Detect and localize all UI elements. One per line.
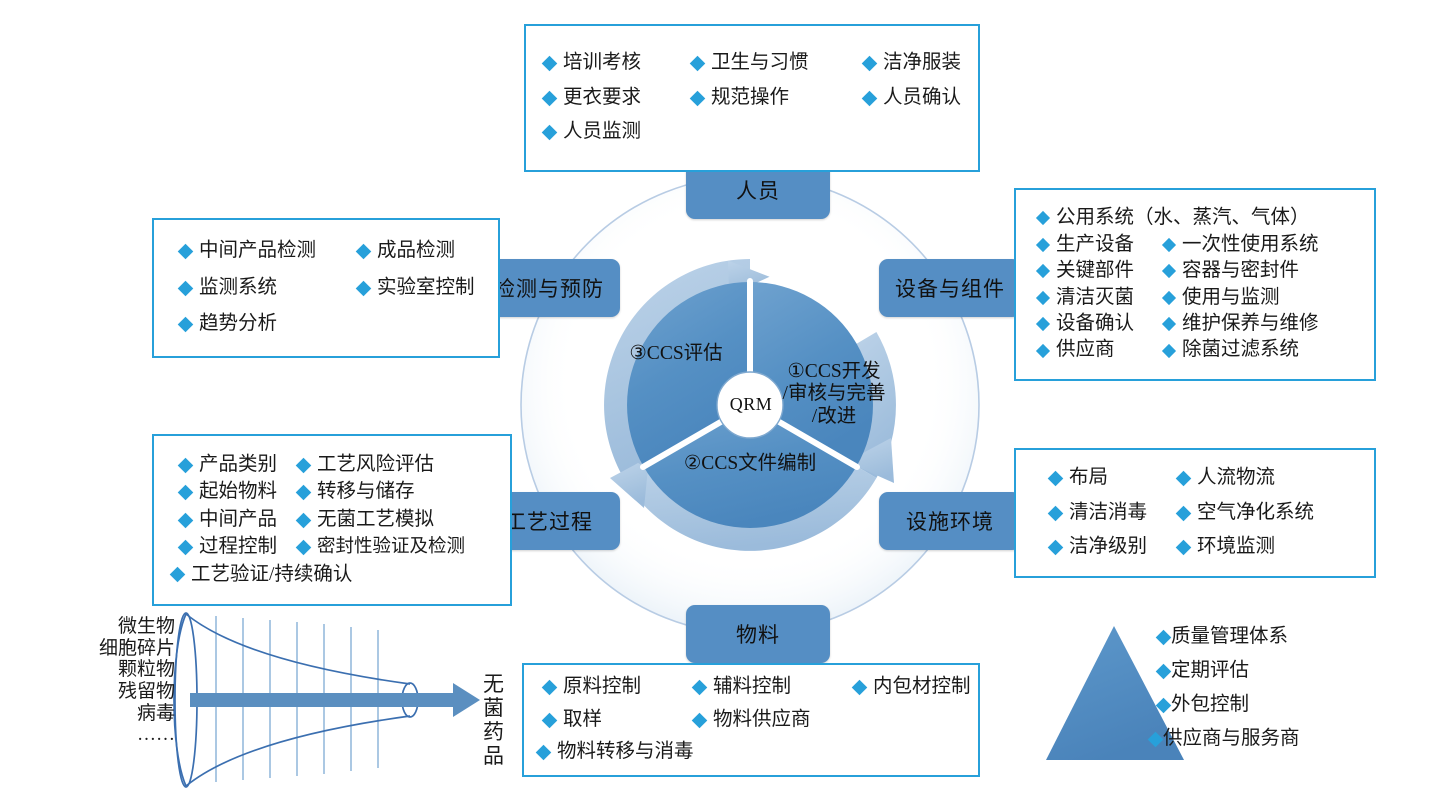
- diamond-bullet-icon: [1162, 238, 1176, 252]
- list-item: 卫生与习惯: [692, 53, 864, 73]
- list-item: 无菌工艺模拟: [298, 510, 510, 530]
- diamond-bullet-icon: [1176, 505, 1192, 521]
- list-item: 中间产品检测: [180, 241, 358, 261]
- diamond-bullet-icon: [542, 90, 558, 106]
- diamond-bullet-icon: [1148, 731, 1164, 747]
- list-item: 维护保养与维修: [1164, 314, 1374, 334]
- panel-process: 产品类别 工艺风险评估 起始物料 转移与储存 中间产品 无菌工艺模拟 过程控制 …: [152, 434, 512, 606]
- funnel-input: 颗粒物: [55, 659, 175, 681]
- diamond-bullet-icon: [542, 712, 558, 728]
- list-item: 中间产品: [180, 510, 298, 530]
- list-item: 密封性验证及检测: [298, 537, 510, 557]
- category-pill-equipment[interactable]: 设备与组件: [879, 259, 1021, 317]
- diamond-bullet-icon: [356, 244, 372, 260]
- diamond-bullet-icon: [296, 512, 312, 528]
- diamond-bullet-icon: [170, 567, 186, 583]
- diamond-bullet-icon: [178, 457, 194, 473]
- diamond-bullet-icon: [542, 680, 558, 696]
- diamond-bullet-icon: [1176, 540, 1192, 556]
- diamond-bullet-icon: [852, 680, 868, 696]
- diamond-bullet-icon: [862, 90, 878, 106]
- list-item: 人员监测: [544, 122, 692, 142]
- panel-material: 原料控制 辅料控制 内包材控制 取样 物料供应商 物料转移与消毒: [522, 663, 980, 777]
- diamond-bullet-icon: [1156, 697, 1172, 713]
- diamond-bullet-icon: [178, 540, 194, 556]
- list-item: 一次性使用系统: [1164, 235, 1374, 255]
- list-item: 容器与密封件: [1164, 261, 1374, 281]
- list-item: 人流物流: [1178, 468, 1374, 488]
- diamond-bullet-icon: [536, 745, 552, 761]
- segment-2-label: ②CCS文件编制: [650, 453, 850, 475]
- list-item: 洁净服装: [864, 53, 1000, 73]
- funnel-input: 残留物: [55, 681, 175, 703]
- list-item: 辅料控制: [694, 677, 854, 697]
- diamond-bullet-icon: [296, 457, 312, 473]
- diamond-bullet-icon: [296, 485, 312, 501]
- diamond-bullet-icon: [692, 680, 708, 696]
- list-item: 实验室控制: [358, 278, 498, 298]
- list-item: 更衣要求: [544, 88, 692, 108]
- diamond-bullet-icon: [1176, 471, 1192, 487]
- funnel-input-labels: 微生物 细胞碎片 颗粒物 残留物 病毒 ……: [55, 616, 175, 746]
- list-item: 监测系统: [180, 278, 358, 298]
- diamond-bullet-icon: [1162, 344, 1176, 358]
- list-item: 外包控制: [1158, 688, 1300, 722]
- list-item: 物料供应商: [694, 710, 854, 730]
- diamond-bullet-icon: [1162, 291, 1176, 305]
- diamond-bullet-icon: [1036, 317, 1050, 331]
- diamond-bullet-icon: [1036, 238, 1050, 252]
- diamond-bullet-icon: [690, 56, 706, 72]
- category-pill-process-label: 工艺过程: [505, 506, 593, 536]
- diamond-bullet-icon: [1036, 291, 1050, 305]
- list-item: 定期评估: [1158, 654, 1300, 688]
- diamond-bullet-icon: [1048, 505, 1064, 521]
- list-item: 布局: [1050, 468, 1178, 488]
- diamond-bullet-icon: [692, 712, 708, 728]
- category-pill-personnel-label: 人员: [736, 175, 780, 205]
- list-item: 生产设备: [1038, 235, 1164, 255]
- diamond-bullet-icon: [690, 90, 706, 106]
- diamond-bullet-icon: [178, 485, 194, 501]
- list-item: 原料控制: [544, 677, 694, 697]
- panel-equipment: 公用系统（水、蒸汽、气体） 生产设备 一次性使用系统 关键部件 容器与密封件 清…: [1014, 188, 1376, 381]
- list-item: 物料转移与消毒: [538, 742, 978, 762]
- diamond-bullet-icon: [178, 280, 194, 296]
- list-item: 过程控制: [180, 537, 298, 557]
- list-item: 空气净化系统: [1178, 503, 1374, 523]
- list-item: 关键部件: [1038, 261, 1164, 281]
- diamond-bullet-icon: [1048, 471, 1064, 487]
- list-item: 使用与监测: [1164, 288, 1374, 308]
- quality-system-triangle: 质量管理体系 定期评估 外包控制 供应商与服务商: [1040, 612, 1370, 784]
- diamond-bullet-icon: [1162, 317, 1176, 331]
- list-item: 除菌过滤系统: [1164, 340, 1374, 360]
- list-item: 工艺风险评估: [298, 455, 510, 475]
- diamond-bullet-icon: [296, 540, 312, 556]
- diamond-bullet-icon: [178, 317, 194, 333]
- category-pill-material[interactable]: 物料: [686, 605, 830, 663]
- ccs-lifecycle-wheel: ①CCS开发 /审核与完善 /改进 ②CCS文件编制 ③CCS评估 QRM: [498, 153, 1002, 657]
- diamond-bullet-icon: [1156, 663, 1172, 679]
- quality-items-list: 质量管理体系 定期评估 外包控制 供应商与服务商: [1158, 620, 1300, 756]
- diamond-bullet-icon: [1048, 540, 1064, 556]
- category-pill-detection-label: 检测与预防: [494, 273, 604, 303]
- list-item: 设备确认: [1038, 314, 1164, 334]
- list-item: 供应商与服务商: [1150, 722, 1300, 756]
- category-pill-equipment-label: 设备与组件: [895, 273, 1005, 303]
- diamond-bullet-icon: [356, 280, 372, 296]
- diamond-bullet-icon: [542, 125, 558, 141]
- segment-1-label: ①CCS开发 /审核与完善 /改进: [766, 361, 902, 428]
- list-item: 规范操作: [692, 88, 864, 108]
- funnel-input: 微生物: [55, 616, 175, 638]
- panel-facility: 布局 人流物流 清洁消毒 空气净化系统 洁净级别 环境监测: [1014, 448, 1376, 578]
- list-item: 清洁消毒: [1050, 503, 1178, 523]
- segment-3-label: ③CCS评估: [606, 343, 746, 365]
- category-pill-facility[interactable]: 设施环境: [879, 492, 1021, 550]
- list-item: 清洁灭菌: [1038, 288, 1164, 308]
- panel-personnel: 培训考核 卫生与习惯 洁净服装 更衣要求 规范操作 人员确认 人员监测: [524, 24, 980, 172]
- diamond-bullet-icon: [1036, 211, 1050, 225]
- category-pill-facility-label: 设施环境: [906, 506, 994, 536]
- list-item: 人员确认: [864, 88, 1000, 108]
- list-item: 质量管理体系: [1158, 620, 1300, 654]
- diamond-bullet-icon: [178, 244, 194, 260]
- funnel-input: 病毒: [55, 703, 175, 725]
- funnel-input: ……: [55, 724, 175, 746]
- list-item: 趋势分析: [180, 314, 358, 334]
- sterility-assurance-funnel: 微生物 细胞碎片 颗粒物 残留物 病毒 …… 无菌 药品: [78, 610, 518, 790]
- diamond-bullet-icon: [542, 56, 558, 72]
- category-pill-material-label: 物料: [736, 619, 780, 649]
- list-item: 取样: [544, 710, 694, 730]
- diamond-bullet-icon: [1036, 344, 1050, 358]
- list-item: 供应商: [1038, 340, 1164, 360]
- list-item: 培训考核: [544, 53, 692, 73]
- funnel-input: 细胞碎片: [55, 638, 175, 660]
- qrm-label: QRM: [725, 394, 777, 415]
- list-item: 成品检测: [358, 241, 498, 261]
- list-item: 转移与储存: [298, 482, 510, 502]
- list-item: 产品类别: [180, 455, 298, 475]
- list-item: 内包材控制: [854, 677, 978, 697]
- diamond-bullet-icon: [1162, 264, 1176, 278]
- list-item: 工艺验证/持续确认: [172, 565, 510, 585]
- list-item: 环境监测: [1178, 537, 1374, 557]
- list-item: 起始物料: [180, 482, 298, 502]
- diamond-bullet-icon: [1156, 629, 1172, 645]
- list-item: 公用系统（水、蒸汽、气体）: [1038, 208, 1374, 228]
- flow-arrow: [190, 683, 480, 717]
- panel-detection: 中间产品检测 成品检测 监测系统 实验室控制 趋势分析: [152, 218, 500, 358]
- diamond-bullet-icon: [862, 56, 878, 72]
- diamond-bullet-icon: [178, 512, 194, 528]
- diamond-bullet-icon: [1036, 264, 1050, 278]
- funnel-output-label: 无菌 药品: [483, 673, 518, 769]
- list-item: 洁净级别: [1050, 537, 1178, 557]
